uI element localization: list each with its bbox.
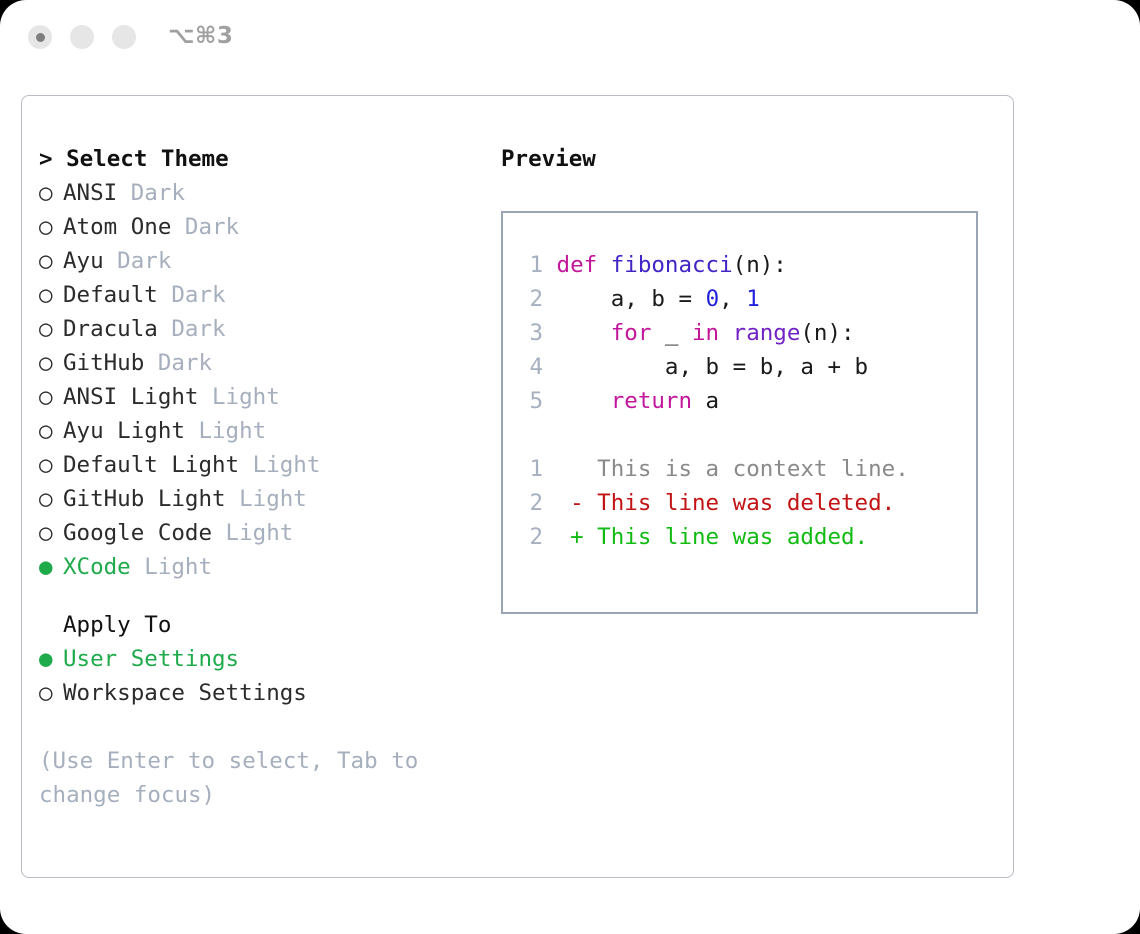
title-bar: ⌥⌘3: [0, 0, 1140, 78]
preview-title: Preview: [501, 142, 991, 176]
theme-option-github[interactable]: ○GitHub Dark: [39, 346, 489, 380]
code-token: (n):: [800, 320, 854, 346]
code-token: [557, 320, 611, 346]
theme-option-google-code[interactable]: ○Google Code Light: [39, 516, 489, 550]
theme-option-dracula[interactable]: ○Dracula Dark: [39, 312, 489, 346]
theme-option-tag: Light: [185, 418, 266, 444]
code-token: for: [611, 320, 652, 346]
radio-selected-icon: ●: [39, 550, 63, 584]
diff-line-number: 2: [515, 486, 543, 520]
preview-box: 1 def fibonacci(n):2 a, b = 0, 13 for _ …: [501, 211, 978, 614]
window-dot-2[interactable]: [70, 25, 94, 49]
radio-unselected-icon: ○: [39, 516, 63, 550]
code-line: 5 return a: [515, 384, 976, 418]
theme-option-atom-one[interactable]: ○Atom One Dark: [39, 210, 489, 244]
window-dot-active[interactable]: [28, 25, 52, 49]
apply-to-option-user-settings[interactable]: ●User Settings: [39, 642, 489, 676]
theme-option-xcode[interactable]: ●XCode Light: [39, 550, 489, 584]
theme-option-label: Google Code: [63, 520, 212, 546]
code-line-number: 2: [515, 282, 543, 316]
theme-option-label: Atom One: [63, 214, 171, 240]
theme-option-tag: Light: [226, 486, 307, 512]
code-token: in: [692, 320, 719, 346]
diff-line-text: This is a context line.: [543, 456, 909, 482]
radio-unselected-icon: ○: [39, 312, 63, 346]
code-blank-line: [515, 418, 976, 452]
theme-option-tag: Dark: [144, 350, 212, 376]
main-card: > Select Theme ○ANSI Dark○Atom One Dark○…: [21, 95, 1014, 878]
radio-unselected-icon: ○: [39, 176, 63, 210]
theme-option-label: Dracula: [63, 316, 158, 342]
code-line-number: 5: [515, 384, 543, 418]
radio-unselected-icon: ○: [39, 482, 63, 516]
code-token: range: [733, 320, 801, 346]
theme-list-title-label: Select Theme: [66, 146, 229, 172]
radio-unselected-icon: ○: [39, 210, 63, 244]
keyboard-hint-text: (Use Enter to select, Tab to change focu…: [39, 744, 449, 812]
theme-option-label: Ayu Light: [63, 418, 185, 444]
theme-selector-pane: > Select Theme ○ANSI Dark○Atom One Dark○…: [39, 142, 489, 812]
radio-unselected-icon: ○: [39, 676, 63, 710]
theme-option-default-light[interactable]: ○Default Light Light: [39, 448, 489, 482]
diff-line: 1 This is a context line.: [515, 452, 976, 486]
theme-option-label: GitHub: [63, 350, 144, 376]
theme-option-ansi-light[interactable]: ○ANSI Light Light: [39, 380, 489, 414]
radio-unselected-icon: ○: [39, 448, 63, 482]
theme-option-tag: Dark: [104, 248, 172, 274]
apply-to-option-workspace-settings[interactable]: ○Workspace Settings: [39, 676, 489, 710]
app-window: ⌥⌘3 > Select Theme ○ANSI Dark○Atom One D…: [0, 0, 1140, 934]
diff-line-number: 1: [515, 452, 543, 486]
apply-to-option-label: User Settings: [63, 646, 239, 672]
theme-option-tag: Dark: [158, 316, 226, 342]
code-token: [557, 388, 611, 414]
theme-option-label: GitHub Light: [63, 486, 226, 512]
theme-option-tag: Light: [131, 554, 212, 580]
code-token: return: [611, 388, 692, 414]
code-line: 1 def fibonacci(n):: [515, 248, 976, 282]
code-line-number: 4: [515, 350, 543, 384]
code-token: fibonacci: [611, 252, 733, 278]
code-token: ,: [719, 286, 746, 312]
code-token: a: [692, 388, 719, 414]
diff-line: 2 + This line was added.: [515, 520, 976, 554]
code-line-number: 1: [515, 248, 543, 282]
theme-option-label: Default Light: [63, 452, 239, 478]
theme-list-title: > Select Theme: [39, 142, 489, 176]
theme-option-tag: Dark: [171, 214, 239, 240]
code-preview: 1 def fibonacci(n):2 a, b = 0, 13 for _ …: [503, 213, 976, 554]
radio-unselected-icon: ○: [39, 380, 63, 414]
code-line: 4 a, b = b, a + b: [515, 350, 976, 384]
theme-option-label: ANSI Light: [63, 384, 198, 410]
radio-unselected-icon: ○: [39, 346, 63, 380]
theme-option-ayu-light[interactable]: ○Ayu Light Light: [39, 414, 489, 448]
theme-option-tag: Dark: [158, 282, 226, 308]
window-dot-3[interactable]: [112, 25, 136, 49]
diff-line-number: 2: [515, 520, 543, 554]
radio-unselected-icon: ○: [39, 244, 63, 278]
code-token: a, b = b, a + b: [557, 354, 869, 380]
keyboard-shortcut-label: ⌥⌘3: [168, 23, 233, 49]
theme-options-list: ○ANSI Dark○Atom One Dark○Ayu Dark○Defaul…: [39, 176, 489, 584]
code-token: a, b =: [557, 286, 706, 312]
theme-option-tag: Light: [239, 452, 320, 478]
theme-option-label: Ayu: [63, 248, 104, 274]
apply-to-option-label: Workspace Settings: [63, 680, 307, 706]
radio-selected-icon: ●: [39, 642, 63, 676]
code-token: (n):: [733, 252, 787, 278]
prompt-caret-icon: >: [39, 146, 53, 172]
theme-option-github-light[interactable]: ○GitHub Light Light: [39, 482, 489, 516]
diff-line-text: + This line was added.: [543, 524, 868, 550]
preview-pane: Preview 1 def fibonacci(n):2 a, b = 0, 1…: [501, 142, 991, 614]
theme-option-tag: Dark: [117, 180, 185, 206]
apply-to-options-list: ●User Settings○Workspace Settings: [39, 642, 489, 710]
theme-option-label: ANSI: [63, 180, 117, 206]
spacer-1: [39, 584, 489, 608]
theme-option-ayu[interactable]: ○Ayu Dark: [39, 244, 489, 278]
window-dot-active-inner: [36, 33, 45, 42]
code-token: def: [557, 252, 611, 278]
code-line-number: 3: [515, 316, 543, 350]
theme-option-default[interactable]: ○Default Dark: [39, 278, 489, 312]
theme-option-ansi[interactable]: ○ANSI Dark: [39, 176, 489, 210]
code-line: 3 for _ in range(n):: [515, 316, 976, 350]
spacer-2: [39, 710, 489, 744]
theme-option-label: XCode: [63, 554, 131, 580]
radio-unselected-icon: ○: [39, 414, 63, 448]
code-token: _: [651, 320, 692, 346]
code-token: 1: [746, 286, 760, 312]
diff-line-text: - This line was deleted.: [543, 490, 895, 516]
window-controls: [28, 25, 136, 49]
theme-option-label: Default: [63, 282, 158, 308]
theme-option-tag: Light: [212, 520, 293, 546]
radio-unselected-icon: ○: [39, 278, 63, 312]
code-line: 2 a, b = 0, 1: [515, 282, 976, 316]
theme-option-tag: Light: [198, 384, 279, 410]
code-token: 0: [706, 286, 720, 312]
diff-line: 2 - This line was deleted.: [515, 486, 976, 520]
apply-to-title: Apply To: [39, 608, 489, 642]
code-token: [719, 320, 733, 346]
